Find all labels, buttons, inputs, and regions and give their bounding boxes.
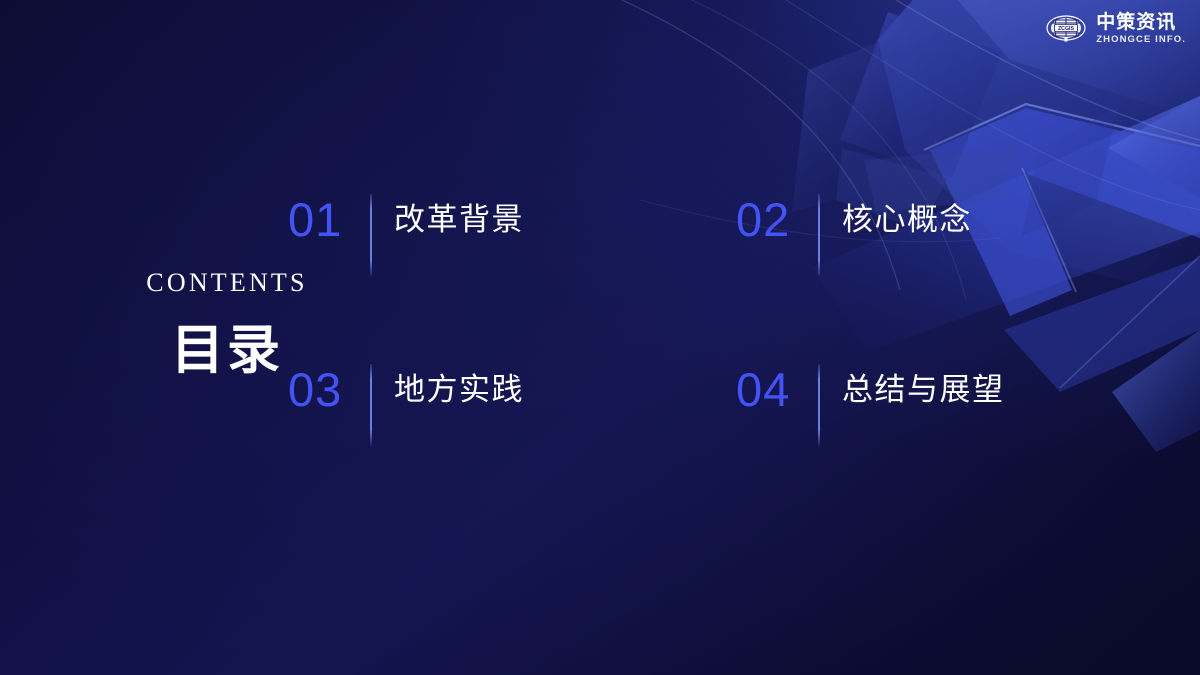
toc-number: 01 [288, 196, 366, 243]
toc-number: 03 [288, 366, 366, 413]
company-logo: ZCGIS 中策资讯 ZHONGCE INFO. [1045, 13, 1186, 45]
toc-label: 核心概念 [842, 201, 972, 241]
logo-wordmark: 中策资讯 ZHONGCE INFO. [1096, 13, 1186, 45]
logo-company-cn: 中策资讯 [1096, 13, 1186, 32]
toc-divider [370, 364, 372, 446]
emblem-text: ZCGIS [1058, 26, 1075, 32]
toc-item-01[interactable]: 01 改革背景 [288, 196, 736, 366]
toc-divider [818, 194, 820, 276]
toc-number: 02 [736, 196, 814, 243]
toc-label: 总结与展望 [842, 371, 1005, 411]
toc-item-03[interactable]: 03 地方实践 [288, 366, 736, 466]
toc-item-02[interactable]: 02 核心概念 [736, 196, 1048, 366]
toc-item-04[interactable]: 04 总结与展望 [736, 366, 1048, 466]
logo-company-en: ZHONGCE INFO. [1096, 35, 1186, 45]
contents-slide: ZCGIS 中策资讯 ZHONGCE INFO. CONTENTS 目录 01 … [0, 0, 1200, 675]
toc-label: 地方实践 [394, 371, 524, 411]
table-of-contents: 01 改革背景 02 核心概念 03 地方实践 04 总结与展望 [288, 196, 1048, 466]
toc-divider [370, 194, 372, 276]
toc-divider [818, 364, 820, 446]
toc-label: 改革背景 [394, 201, 524, 241]
toc-number: 04 [736, 366, 814, 413]
globe-grid-icon: ZCGIS [1045, 14, 1087, 44]
